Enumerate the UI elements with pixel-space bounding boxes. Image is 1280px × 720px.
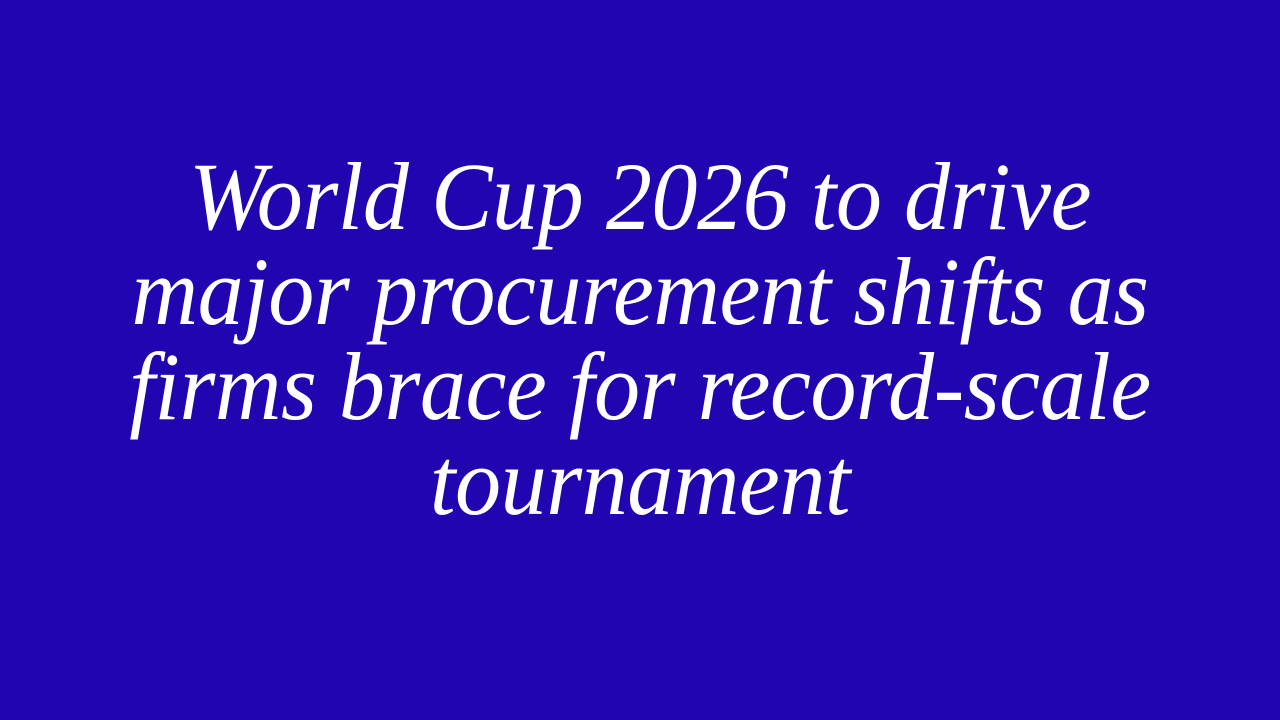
page-title: World Cup 2026 to drive major procuremen… (83, 149, 1197, 529)
headline-block: World Cup 2026 to drive major procuremen… (60, 149, 1220, 529)
headline-poster: World Cup 2026 to drive major procuremen… (0, 0, 1280, 720)
